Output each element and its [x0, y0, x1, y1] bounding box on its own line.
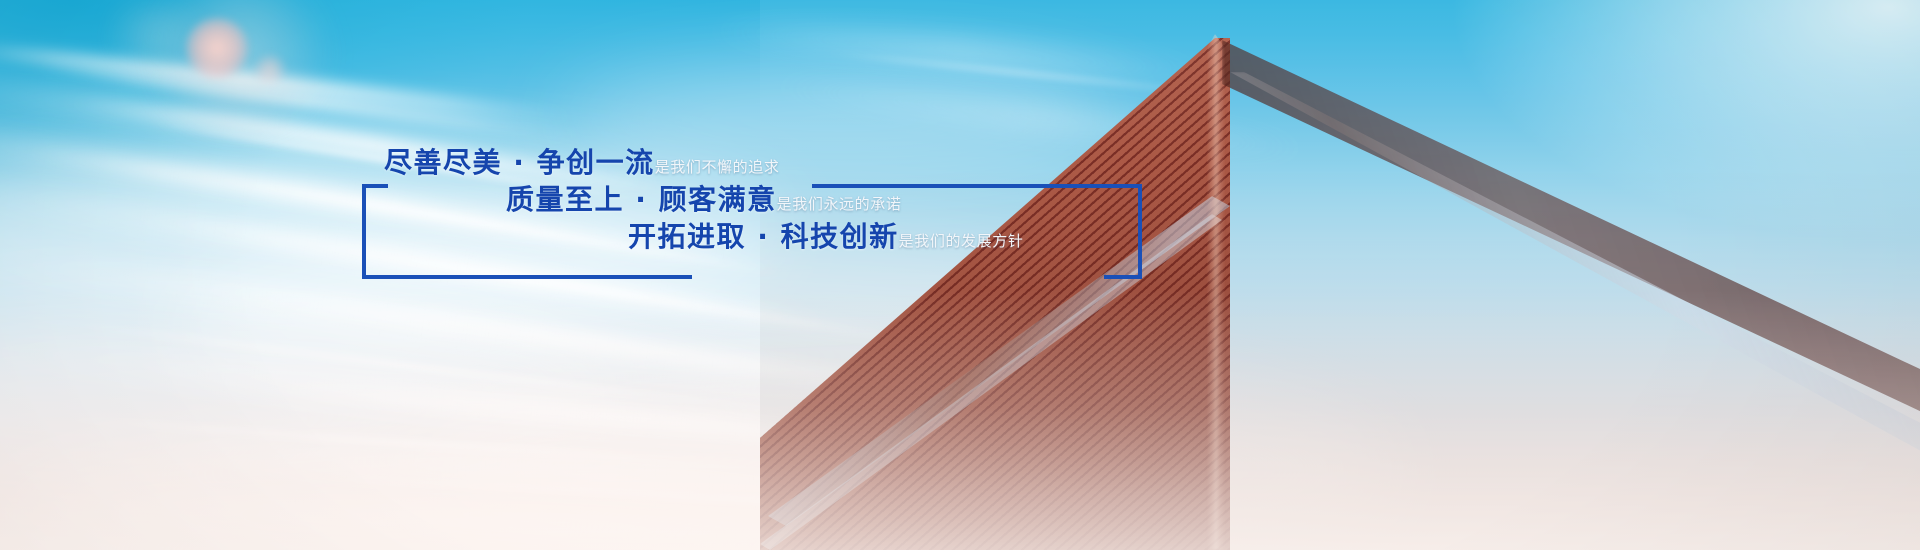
bracket-left-vertical	[362, 184, 366, 279]
slogan-line-2: 质量至上 · 顾客满意是我们永远的承诺	[506, 186, 901, 214]
slogan-line-1-sub: 是我们不懈的追求	[655, 158, 780, 176]
slogan-line-3-sub: 是我们的发展方针	[899, 232, 1024, 250]
bracket-bottom-left-segment	[362, 275, 692, 279]
bracket-right-vertical	[1138, 184, 1142, 279]
slogan-block: 尽善尽美 · 争创一流是我们不懈的追求 质量至上 · 顾客满意是我们永远的承诺 …	[0, 0, 1920, 550]
slogan-line-3: 开拓进取 · 科技创新是我们的发展方针	[628, 223, 1023, 251]
hero-banner: 尽善尽美 · 争创一流是我们不懈的追求 质量至上 · 顾客满意是我们永远的承诺 …	[0, 0, 1920, 550]
slogan-line-3-main: 开拓进取 · 科技创新	[628, 220, 899, 253]
bracket-bottom-right-stub	[1104, 275, 1142, 279]
slogan-line-2-sub: 是我们永远的承诺	[777, 195, 902, 213]
slogan-line-1-main: 尽善尽美 · 争创一流	[384, 146, 655, 179]
slogan-line-1: 尽善尽美 · 争创一流是我们不懈的追求	[384, 149, 779, 177]
slogan-line-2-main: 质量至上 · 顾客满意	[506, 183, 777, 216]
